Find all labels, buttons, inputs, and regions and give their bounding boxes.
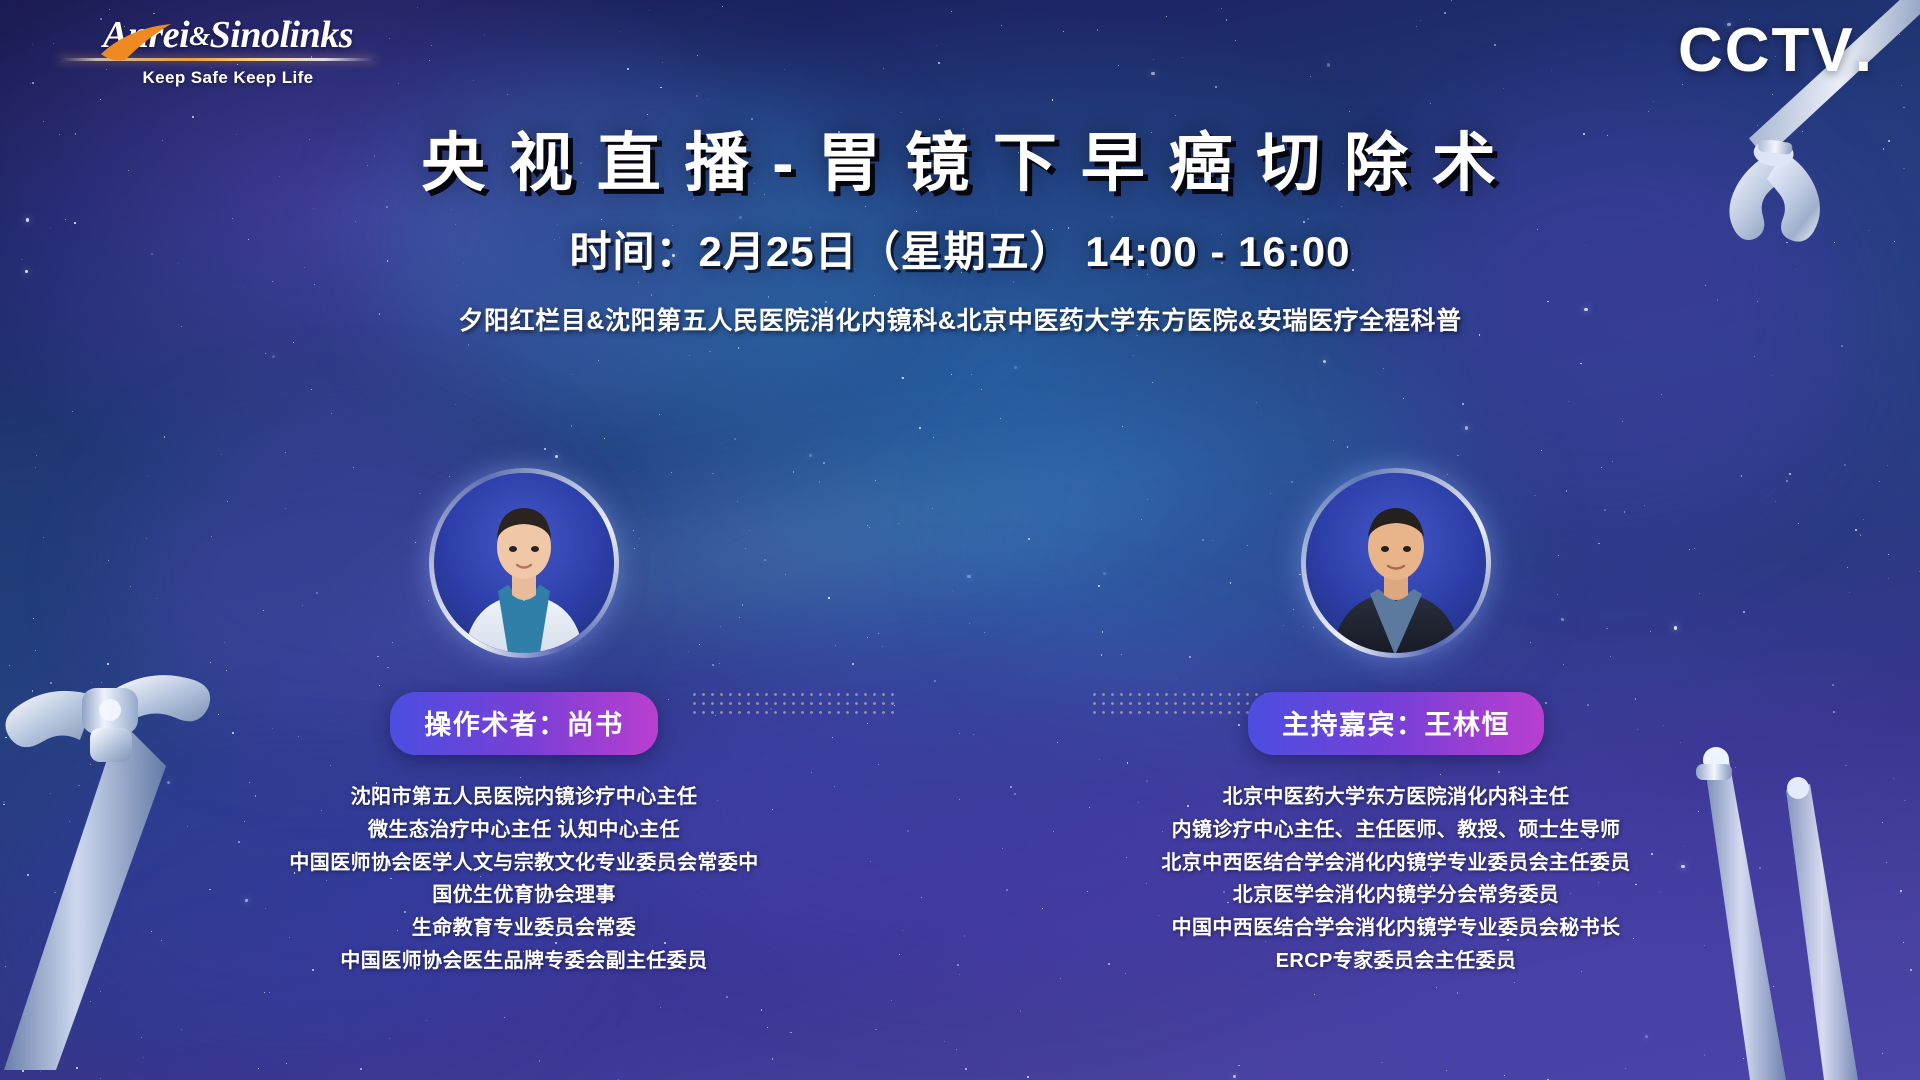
company-name-part2: Sinolinks bbox=[210, 14, 353, 56]
speakers-section: 操作术者：尚书 沈阳市第五人民医院内镜诊疗中心主任 微生态治疗中心主任 认知中心… bbox=[0, 468, 1920, 978]
credential-line: ERCP专家委员会主任委员 bbox=[1146, 945, 1646, 978]
avatar-ring bbox=[429, 468, 619, 658]
speaker-name-badge-operator: 操作术者：尚书 bbox=[390, 692, 658, 755]
credential-line: 北京中医药大学东方医院消化内科主任 bbox=[1146, 781, 1646, 814]
brand-divider-line bbox=[58, 58, 376, 61]
event-time: 时间：2月25日（星期五） 14:00 - 16:00 bbox=[0, 218, 1920, 279]
livestream-promo-poster: Anrei&Sinolinks Keep Safe Keep Life CCTV… bbox=[0, 0, 1920, 1080]
headline-block: 央 视 直 播 - 胃 镜 下 早 癌 切 除 术 时间：2月25日（星期五） … bbox=[0, 128, 1920, 337]
avatar-photo-frame bbox=[1306, 473, 1486, 653]
avatar bbox=[429, 468, 619, 658]
speaker-portrait-host bbox=[1306, 473, 1486, 653]
cctv-logo-text: CCTV bbox=[1678, 16, 1855, 85]
speaker-card-host: 主持嘉宾：王林恒 北京中医药大学东方医院消化内科主任 内镜诊疗中心主任、主任医师… bbox=[1146, 468, 1646, 978]
speaker-portrait-operator bbox=[434, 473, 614, 653]
speaker-card-operator: 操作术者：尚书 沈阳市第五人民医院内镜诊疗中心主任 微生态治疗中心主任 认知中心… bbox=[274, 468, 774, 978]
avatar-photo-frame bbox=[434, 473, 614, 653]
page-title: 央 视 直 播 - 胃 镜 下 早 癌 切 除 术 bbox=[0, 128, 1920, 200]
avatar bbox=[1301, 468, 1491, 658]
company-logo: Anrei&Sinolinks Keep Safe Keep Life bbox=[58, 16, 398, 88]
credential-line: 中国中西医结合学会消化内镜学专业委员会秘书长 bbox=[1146, 912, 1646, 945]
credential-line: 内镜诊疗中心主任、主任医师、教授、硕士生导师 bbox=[1146, 814, 1646, 847]
credential-line: 北京医学会消化内镜学分会常务委员 bbox=[1146, 879, 1646, 912]
credential-line: 中国医师协会医学人文与宗教文化专业委员会常委中 bbox=[274, 847, 774, 880]
credential-line: 北京中西医结合学会消化内镜学专业委员会主任委员 bbox=[1146, 847, 1646, 880]
avatar-ring bbox=[1301, 468, 1491, 658]
speaker-credentials-operator: 沈阳市第五人民医院内镜诊疗中心主任 微生态治疗中心主任 认知中心主任 中国医师协… bbox=[274, 781, 774, 978]
speaker-name-badge-host: 主持嘉宾：王林恒 bbox=[1248, 692, 1544, 755]
credential-line: 微生态治疗中心主任 认知中心主任 bbox=[274, 814, 774, 847]
speaker-credentials-host: 北京中医药大学东方医院消化内科主任 内镜诊疗中心主任、主任医师、教授、硕士生导师… bbox=[1146, 781, 1646, 978]
company-logo-wordmark: Anrei&Sinolinks bbox=[103, 16, 353, 54]
credential-line: 国优生优育协会理事 bbox=[274, 879, 774, 912]
credential-line: 生命教育专业委员会常委 bbox=[274, 912, 774, 945]
cctv-logo: CCTV. bbox=[1678, 20, 1872, 82]
company-name-part1: Anrei bbox=[103, 14, 189, 56]
company-name-amp: & bbox=[189, 21, 210, 51]
cctv-logo-dot: . bbox=[1855, 16, 1872, 85]
credential-line: 沈阳市第五人民医院内镜诊疗中心主任 bbox=[274, 781, 774, 814]
organizers-line: 夕阳红栏目&沈阳第五人民医院消化内镜科&北京中医药大学东方医院&安瑞医疗全程科普 bbox=[0, 301, 1920, 337]
company-tagline: Keep Safe Keep Life bbox=[58, 68, 398, 88]
credential-line: 中国医师协会医生品牌专委会副主任委员 bbox=[274, 945, 774, 978]
